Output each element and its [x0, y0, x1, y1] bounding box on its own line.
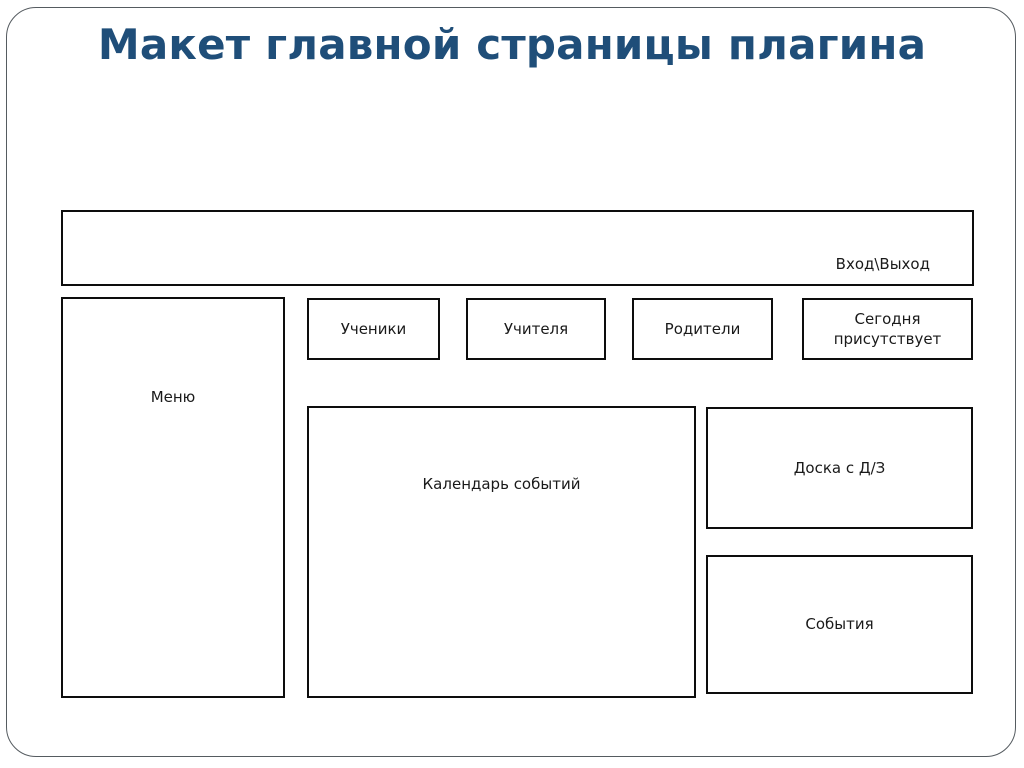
wireframe-teachers-button[interactable]: Учителя [466, 298, 606, 360]
wireframe-event-calendar-panel[interactable]: Календарь событий [307, 406, 696, 698]
wireframe-students-button[interactable]: Ученики [307, 298, 440, 360]
wireframe-homework-board-panel[interactable]: Доска с Д/З [706, 407, 973, 529]
students-button-label: Ученики [341, 319, 407, 339]
slide-canvas: Макет главной страницы плагина Вход\Выхо… [0, 0, 1024, 768]
wireframe-menu-panel[interactable]: Меню [61, 297, 285, 698]
wireframe-today-attendance-button[interactable]: Сегодня присутствует [802, 298, 973, 360]
events-panel-label: События [805, 614, 873, 634]
page-title: Макет главной страницы плагина [70, 20, 954, 69]
today-attendance-label: Сегодня присутствует [834, 309, 942, 350]
teachers-button-label: Учителя [504, 319, 568, 339]
auth-link-label[interactable]: Вход\Выход [836, 254, 930, 274]
event-calendar-label: Календарь событий [423, 474, 581, 494]
parents-button-label: Родители [665, 319, 741, 339]
wireframe-parents-button[interactable]: Родители [632, 298, 773, 360]
wireframe-header-bar: Вход\Выход [61, 210, 974, 286]
homework-board-label: Доска с Д/З [794, 458, 886, 478]
menu-panel-label: Меню [151, 387, 196, 407]
wireframe-events-panel[interactable]: События [706, 555, 973, 694]
